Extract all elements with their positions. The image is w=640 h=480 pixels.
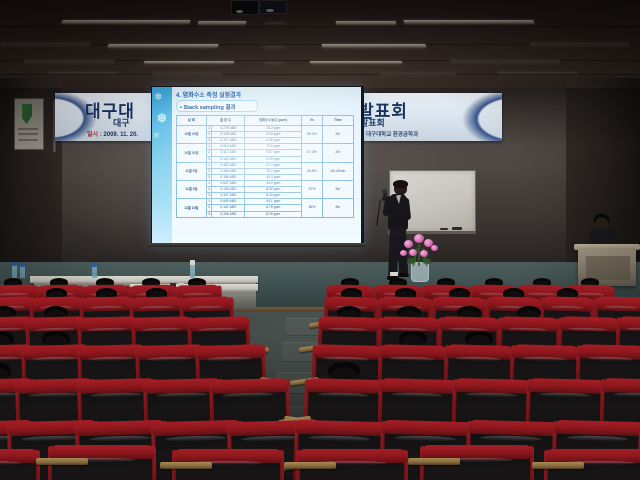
table-cell-date: 11월 9일 xyxy=(177,180,207,198)
ceiling-light xyxy=(0,43,91,46)
auditorium-seat-foreground xyxy=(0,452,36,480)
podium-top xyxy=(574,244,640,250)
banner-date-value: 2009. 11. 20. xyxy=(103,132,138,138)
table-header-cell: 염화수소농도 (ppm) xyxy=(245,116,302,126)
slide-bullet-text: • Stack sampling 결과 xyxy=(180,103,235,111)
water-bottle xyxy=(92,263,97,278)
seat-headrest xyxy=(541,296,593,311)
table-cell-time: 2hr xyxy=(322,126,353,144)
ceiling-light xyxy=(529,43,630,46)
seat-headrest xyxy=(554,420,640,436)
lecture-hall-photo: 대구대 대구 일시 : 2009. 11. 20. 발표회 발표회 대구대학교 … xyxy=(0,0,640,480)
seat-headrest xyxy=(296,420,386,436)
microphone-head xyxy=(382,189,387,194)
table-header-cell: Vs xyxy=(302,116,323,126)
orchid-bloom xyxy=(404,240,413,248)
table-cell-date: 11월 6일 xyxy=(177,162,207,180)
table-cell-time: 2hr xyxy=(322,180,353,198)
table-cell-vs: 66% xyxy=(302,199,323,217)
event-banner-right: 발표회 발표회 대구대학교 환경공학과 xyxy=(352,93,502,141)
table-cell-time: 2hr xyxy=(322,199,353,217)
seat-headrest xyxy=(454,378,532,394)
orchid-bloom xyxy=(414,234,424,243)
seat-headrest xyxy=(80,296,132,311)
table-cell-date: 10월 29일 xyxy=(177,126,207,144)
projection-screen: ❄ ❅ ❄ 4. 염화수소 측정 실험결과 • Stack sampling 결… xyxy=(151,86,364,246)
table-cell-time: 2hr xyxy=(322,144,353,162)
water-bottle xyxy=(190,260,195,278)
ceiling-light xyxy=(336,21,397,25)
water-bottle xyxy=(12,262,17,278)
seat-headrest xyxy=(595,296,640,311)
seat-headrest xyxy=(468,420,558,436)
table-cell-time: 1hr 40min xyxy=(322,162,353,180)
ceiling-light xyxy=(380,73,456,75)
table-cell-date: 11월 10일 xyxy=(177,199,207,217)
flower-leaf xyxy=(422,258,431,264)
whiteboard-marker xyxy=(452,227,462,230)
table-header-cell: 흡 광 도 xyxy=(206,116,245,126)
banner-organization: 대구대학교 환경공학과 xyxy=(366,130,418,138)
whiteboard-marker xyxy=(440,228,448,230)
seat-headrest xyxy=(602,378,640,394)
ceiling-light xyxy=(24,60,115,63)
seat-armrest xyxy=(160,462,212,469)
ceiling-light xyxy=(403,20,535,24)
ceiling-light xyxy=(152,73,222,75)
banner-date-label: 일시 : xyxy=(87,132,102,138)
orchid-bloom xyxy=(420,250,428,257)
table-header-cell: 날 짜 xyxy=(177,116,207,126)
slide-title: 4. 염화수소 측정 실험결과 xyxy=(176,90,241,99)
seat-headrest xyxy=(382,420,472,436)
ceiling-vent xyxy=(264,62,284,65)
ceiling-light xyxy=(310,61,403,64)
table-cell-vs: 67% xyxy=(302,180,323,198)
orchid-bloom xyxy=(409,249,417,256)
projector-lens xyxy=(266,9,274,12)
table-cell-vs: 69.2% xyxy=(302,126,323,144)
snowflake-icon: ❄ xyxy=(154,93,162,103)
seat-headrest xyxy=(380,378,458,394)
seat-headrest xyxy=(421,445,533,459)
ceiling-light xyxy=(498,72,578,74)
seat-armrest xyxy=(284,462,336,469)
seat-headrest xyxy=(528,378,606,394)
table-cell-ppm: 8.16 ppm xyxy=(245,211,302,217)
results-table: 날 짜 흡 광 도 염화수소농도 (ppm) Vs Time 10월 29일10… xyxy=(176,115,354,218)
podium-panel xyxy=(586,256,630,280)
seat-armrest xyxy=(36,458,88,465)
table-header-cell: Time xyxy=(322,116,353,126)
presenter-shoe xyxy=(398,273,409,277)
ceiling-light xyxy=(450,60,561,63)
ceiling-light xyxy=(144,61,235,64)
powerpoint-slide: ❄ ❅ ❄ 4. 염화수소 측정 실험결과 • Stack sampling 결… xyxy=(152,87,361,243)
seat-headrest xyxy=(306,378,384,394)
orchid-bloom xyxy=(431,245,438,251)
table-cell-vs: 53.8% xyxy=(302,162,323,180)
ceiling-lighting-gradient xyxy=(0,0,640,92)
flower-stem xyxy=(418,244,420,266)
ceiling-vent xyxy=(262,46,286,49)
ceiling-light xyxy=(48,72,118,74)
orchid-bloom xyxy=(400,250,407,256)
banner-date: 일시 : 2009. 11. 20. xyxy=(87,129,138,138)
table-header-row: 날 짜 흡 광 도 염화수소농도 (ppm) Vs Time xyxy=(177,116,354,126)
projector-lens xyxy=(236,10,243,13)
table-cell-absorbance: 0.106 ABS xyxy=(212,211,245,217)
water-bottle xyxy=(20,263,25,278)
ceiling-projector xyxy=(231,0,259,15)
seat-headrest xyxy=(49,445,155,459)
ceiling-vent xyxy=(264,22,286,25)
ceiling-light xyxy=(107,44,218,48)
ceiling-light xyxy=(61,20,191,24)
ceiling-light xyxy=(321,44,426,48)
presenter-hair xyxy=(393,180,408,188)
table-cell-date: 10월 30일 xyxy=(177,144,207,162)
seat-armrest xyxy=(408,458,460,465)
seat-headrest xyxy=(210,378,288,394)
snowflake-icon: ❄ xyxy=(153,132,160,140)
screen-bottom-bar xyxy=(148,243,366,247)
flower-leaf xyxy=(407,258,416,264)
table-cell-vs: 67.3% xyxy=(302,144,323,162)
seat-headrest xyxy=(180,296,232,311)
seat-armrest xyxy=(532,462,584,469)
snowflake-icon: ❅ xyxy=(156,111,168,125)
ceiling-projector xyxy=(259,0,287,14)
banner-sub-text: 대구 xyxy=(113,116,130,129)
seat-headrest xyxy=(130,296,182,311)
ceiling-light xyxy=(198,21,247,25)
